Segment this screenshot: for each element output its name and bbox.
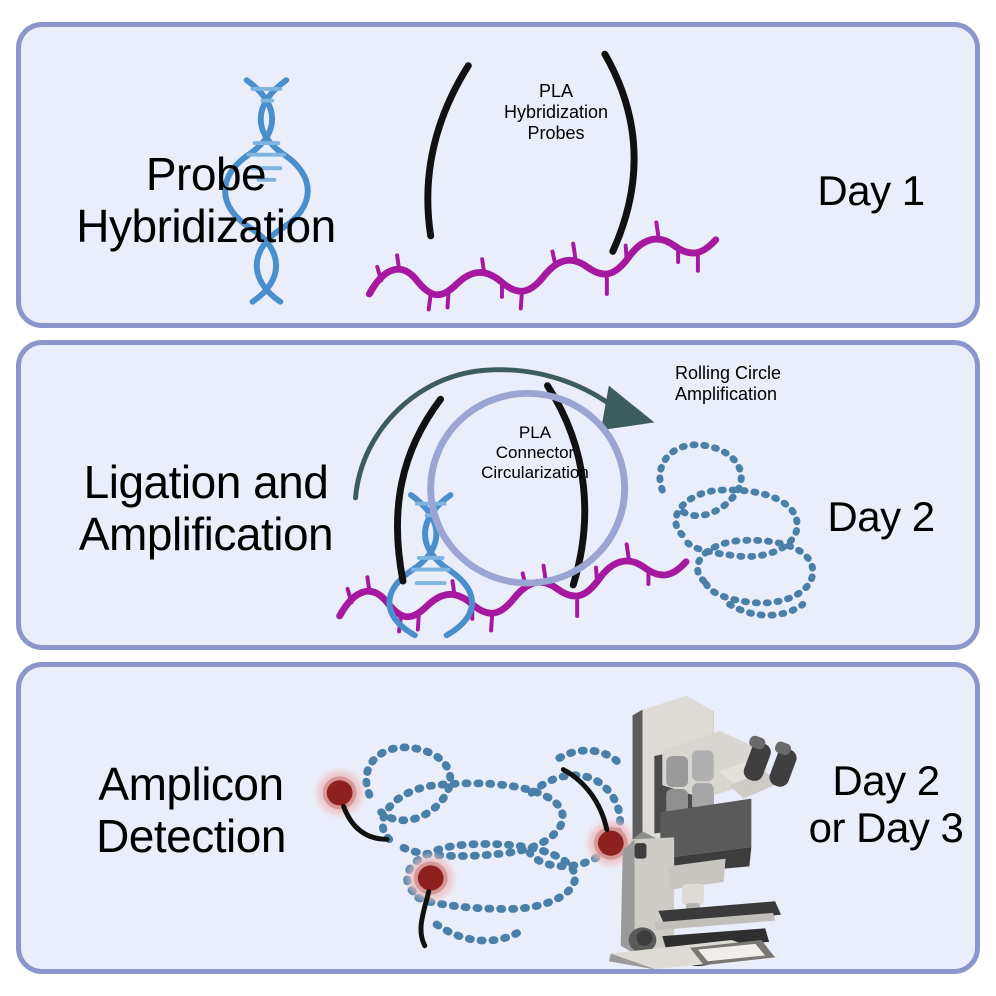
fluorophore-3	[403, 851, 458, 905]
fluorophore-1	[312, 766, 367, 820]
panel-amplicon-detection: Amplicon Detection Day 2 or Day 3	[16, 662, 980, 974]
pla-probe-arm-left	[428, 66, 469, 236]
pla-workflow-figure: Probe Hybridization PLA Hybridization Pr…	[0, 0, 996, 996]
panel-ligation-and-amplification: Ligation and Amplification PLA Connector…	[16, 340, 980, 650]
dna-helix	[225, 80, 308, 302]
panel-probe-hybridization: Probe Hybridization PLA Hybridization Pr…	[16, 22, 980, 328]
connector-circle	[431, 393, 625, 583]
panel-3-artwork	[21, 667, 975, 969]
microscope-icon	[609, 696, 799, 969]
pla-probe-arm-right	[605, 54, 634, 251]
amplicon-coil	[660, 445, 813, 616]
pla-probe-arm-right	[547, 386, 584, 585]
panel-1-artwork	[21, 27, 975, 323]
target-rna-strand	[369, 222, 715, 309]
panel-2-artwork	[21, 345, 975, 645]
